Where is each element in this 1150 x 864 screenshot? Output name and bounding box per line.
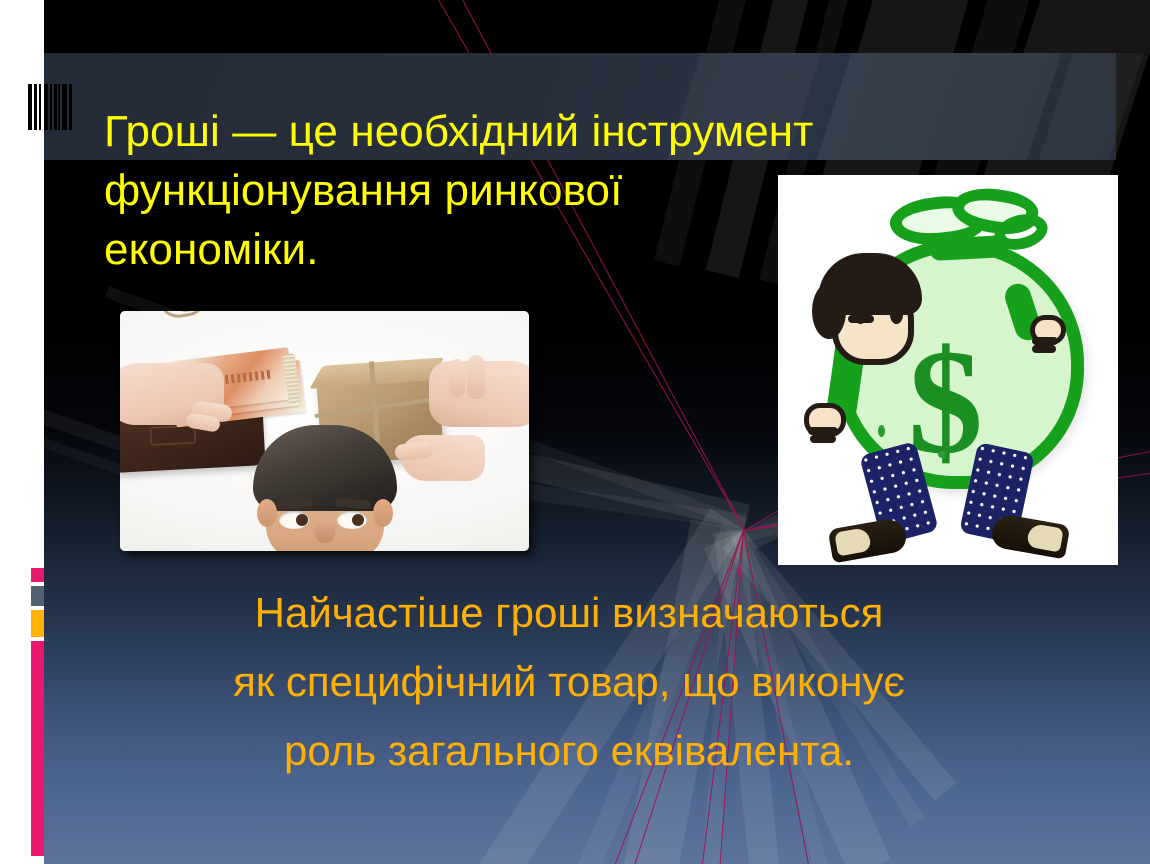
body-line-2: як специфічний товар, що виконує (44, 647, 1094, 716)
barcode-icon (28, 84, 74, 130)
cartoon-mans-head (814, 253, 926, 373)
slide-body-text: Найчастіше гроші визначаються як специфі… (44, 578, 1094, 785)
clipart-man-carrying-money-bag: $ (778, 175, 1118, 565)
chip-magenta-top (31, 568, 44, 582)
accent-color-chips (31, 568, 44, 856)
chip-magenta-bar (31, 641, 44, 856)
photo-money-for-goods (120, 311, 529, 551)
presentation-slide: Гроші — це необхідний інструмент функціо… (0, 0, 1150, 864)
body-line-1: Найчастіше гроші визначаються (44, 578, 1094, 647)
mans-face (253, 425, 397, 551)
chip-amber (31, 610, 44, 637)
money-bag-illustration: $ (778, 175, 1118, 565)
body-line-3: роль загального еквівалента. (44, 716, 1094, 785)
title-line-1: Гроші — це необхідний інструмент (104, 102, 984, 161)
chip-slate (31, 586, 44, 606)
